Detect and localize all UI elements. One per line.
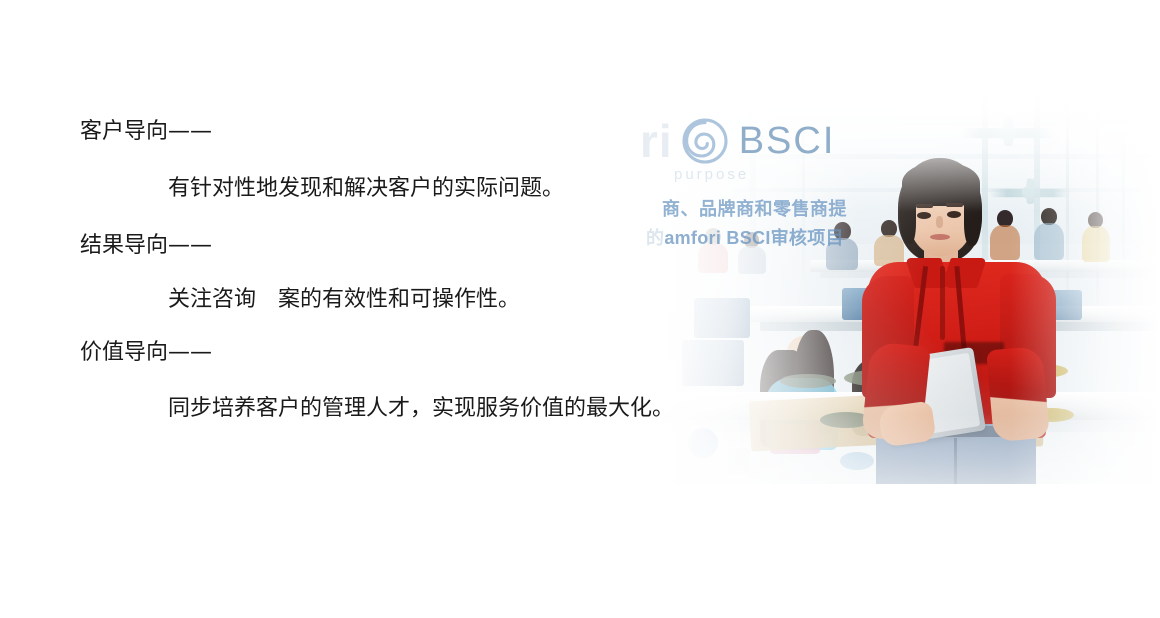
nose [936,216,943,228]
background-worker [738,232,766,274]
storage-crate [682,340,744,386]
hair-right [964,180,982,246]
bullet-detail-1: 有针对性地发现和解决客户的实际问题。 [168,170,564,202]
storage-crate [694,298,750,338]
eye-left [917,212,931,219]
ceiling-beam [650,118,1150,125]
factory-photo [630,92,1160,484]
scattered-parts [780,374,836,388]
background-worker [826,222,858,270]
eye-right [947,211,961,218]
arm-right [986,346,1050,443]
foreground-person [862,158,1062,484]
bullet-detail-2: 关注咨询 案的有效性和可操作性。 [168,281,520,313]
slide-canvas: ri BSCI purpose 商、品牌商和零售商提 的amfori BSCI审… [0,0,1160,618]
structural-column [802,122,805,282]
cup [728,448,750,474]
bullet-heading-2: 结果导向—— [80,227,212,259]
jeans-seam [954,438,957,484]
eyebrow-left [916,204,933,208]
eyebrow-right [946,203,963,207]
bullet-heading-1: 客户导向—— [80,113,212,145]
background-worker [698,228,728,272]
hair-left [900,182,916,244]
shirt-placket [940,266,945,340]
mouth [930,234,950,240]
ceiling-fan-hub [1000,125,1016,141]
spool [688,428,718,458]
bullet-heading-3: 价值导向—— [80,334,212,366]
bullet-detail-3: 同步培养客户的管理人才，实现服务价值的最大化。 [168,390,674,422]
background-worker [1082,212,1110,262]
